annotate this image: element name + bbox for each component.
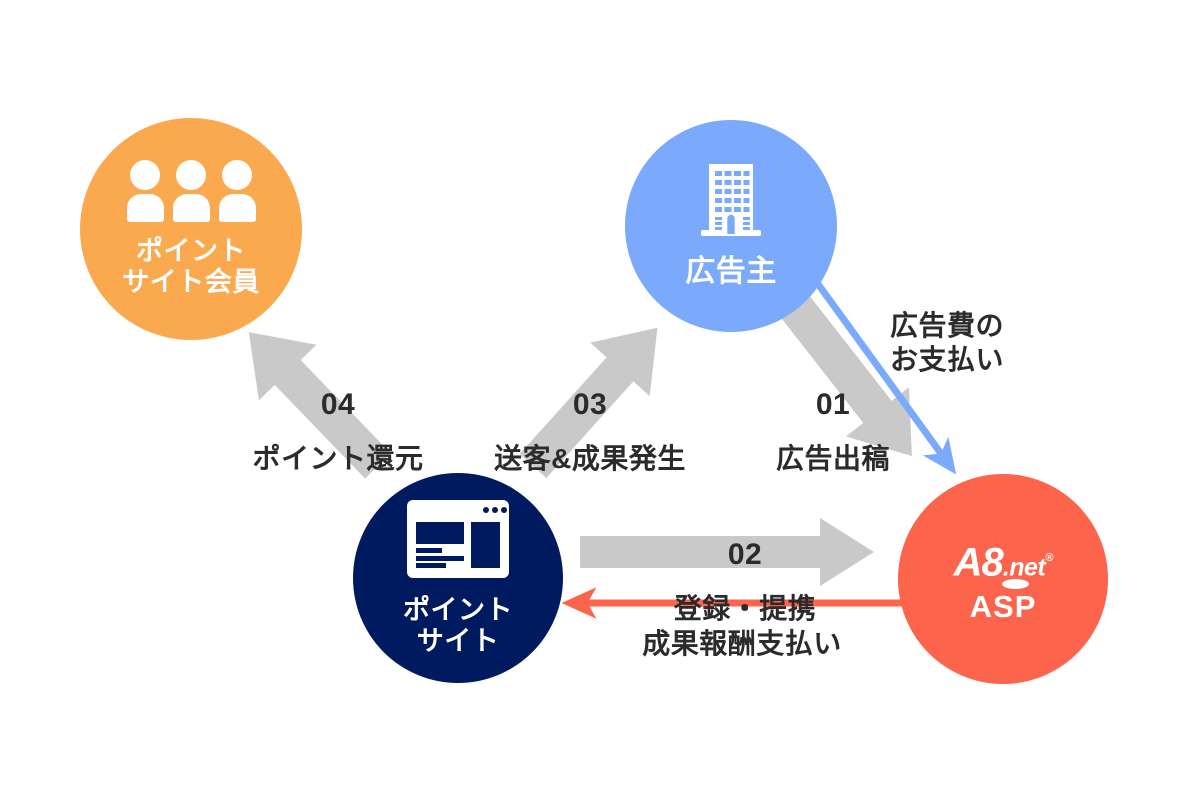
node-label-advertiser: 広告主 [685,255,777,289]
edge-text-01: 広告出稿 [748,442,918,476]
browser-window-icon [407,500,509,583]
office-building-icon [699,162,763,243]
edge-label-04: 04 ポイント還元 [228,368,448,495]
edge-text-03: 送客&成果発生 [465,442,715,476]
node-point-site[interactable]: ポイント サイト [353,473,563,683]
node-label-pointsite: ポイント サイト [403,595,513,657]
a8-logo-suffix: .net [1003,554,1045,582]
node-point-site-member[interactable]: ポイント サイト会員 [80,118,302,340]
a8net-logo-icon: A8.net® [928,533,1078,589]
diagram-canvas: ポイント サイト会員 [0,0,1200,800]
node-label-member: ポイント サイト会員 [122,236,260,298]
node-label-asp: ASP [970,589,1037,624]
edge-number-02: 02 [600,537,890,573]
node-advertiser[interactable]: 広告主 [625,120,837,332]
edge-text-ad-fee-payment: 広告費の お支払い [890,309,1090,376]
node-asp[interactable]: A8.net® ASP [898,474,1108,684]
a8-logo-main: A8 [954,541,1003,585]
edge-number-04: 04 [228,387,448,423]
edge-label-ad-fee-payment: 広告費の お支払い [890,290,1090,396]
edge-text-04: ポイント還元 [228,442,448,476]
people-group-icon [127,160,256,222]
edge-text-reward-payment: 成果報酬支払い [592,627,892,661]
a8-logo-mark: ® [1045,552,1052,564]
edge-label-03: 03 送客&成果発生 [465,368,715,495]
edge-number-03: 03 [465,387,715,423]
edge-label-reward-payment: 成果報酬支払い [592,608,892,680]
